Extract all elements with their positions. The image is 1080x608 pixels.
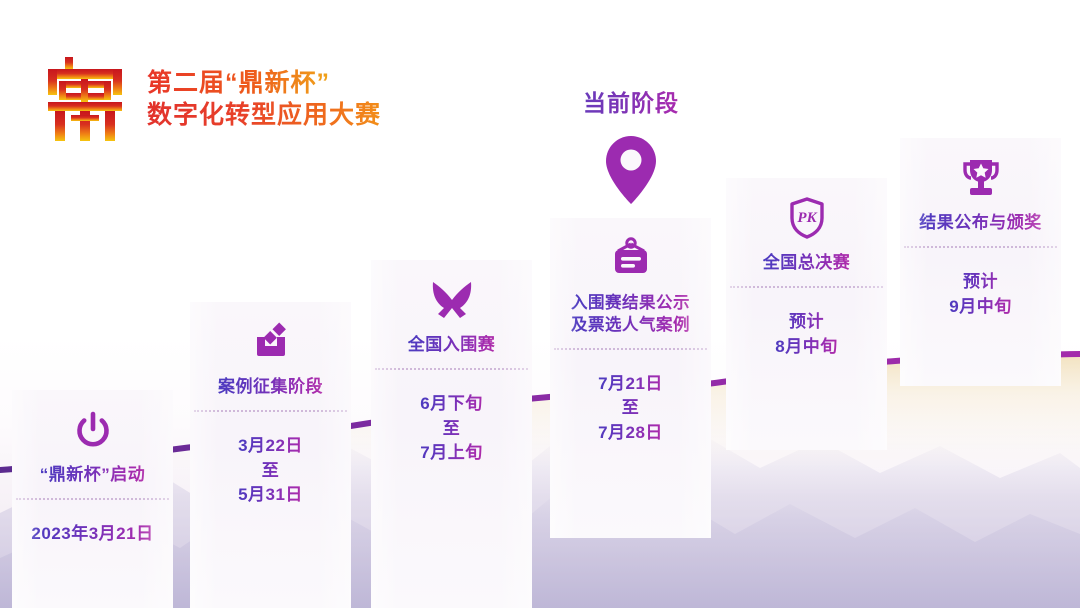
timeline-card-title: 结果公布与颁奖 — [919, 212, 1042, 235]
timeline-card-date: 预计 9月中旬 — [949, 270, 1011, 319]
card-divider — [16, 498, 169, 500]
timeline-card-3[interactable]: 全国入围赛 6月下旬 至 7月上旬 — [371, 260, 532, 608]
timeline-card-title: 案例征集阶段 — [218, 376, 323, 399]
timeline-card-date: 预计 8月中旬 — [775, 310, 837, 359]
ding-cauldron-logo — [45, 55, 125, 143]
timeline-card-title: 全国总决赛 — [763, 252, 851, 275]
brand-header: 第二届“鼎新杯” 数字化转型应用大赛 — [45, 55, 381, 143]
pk-shield-icon: PK — [784, 192, 830, 244]
brand-title-line1: 第二届“鼎新杯” — [147, 67, 381, 99]
card-divider — [194, 410, 347, 412]
timeline-card-date: 6月下旬 至 7月上旬 — [420, 392, 482, 466]
power-icon — [73, 404, 113, 456]
slide-canvas: 第二届“鼎新杯” 数字化转型应用大赛 当前阶段 “鼎新杯”启动 2023年3月2… — [0, 0, 1080, 608]
map-pin-icon — [556, 134, 706, 206]
svg-text:PK: PK — [797, 210, 817, 226]
timeline-card-1[interactable]: “鼎新杯”启动 2023年3月21日 — [12, 390, 173, 608]
card-divider — [375, 368, 528, 370]
current-stage-label: 当前阶段 — [556, 84, 706, 118]
butterfly-ribbon-icon — [429, 274, 475, 326]
collection-box-icon — [250, 316, 292, 368]
timeline-card-date: 3月22日 至 5月31日 — [238, 434, 303, 508]
card-divider — [730, 286, 883, 288]
current-stage-marker: 当前阶段 — [556, 84, 706, 206]
timeline-card-2[interactable]: 案例征集阶段 3月22日 至 5月31日 — [190, 302, 351, 608]
timeline-card-title: 入围赛结果公示 及票选人气案例 — [571, 292, 690, 337]
timeline-card-4[interactable]: 入围赛结果公示 及票选人气案例 7月21日 至 7月28日 — [550, 218, 711, 538]
trophy-star-icon — [957, 152, 1005, 204]
card-divider — [904, 246, 1057, 248]
card-divider — [554, 348, 707, 350]
timeline-card-date: 2023年3月21日 — [31, 522, 153, 547]
timeline-card-5[interactable]: PK 全国总决赛 预计 8月中旬 — [726, 178, 887, 450]
timeline-card-title: 全国入围赛 — [408, 334, 496, 357]
timeline-card-6[interactable]: 结果公布与颁奖 预计 9月中旬 — [900, 138, 1061, 386]
brand-title-line2: 数字化转型应用大赛 — [147, 99, 381, 131]
timeline-card-date: 7月21日 至 7月28日 — [598, 372, 663, 446]
announcement-sign-icon — [608, 232, 654, 284]
timeline-card-title: “鼎新杯”启动 — [40, 464, 146, 487]
